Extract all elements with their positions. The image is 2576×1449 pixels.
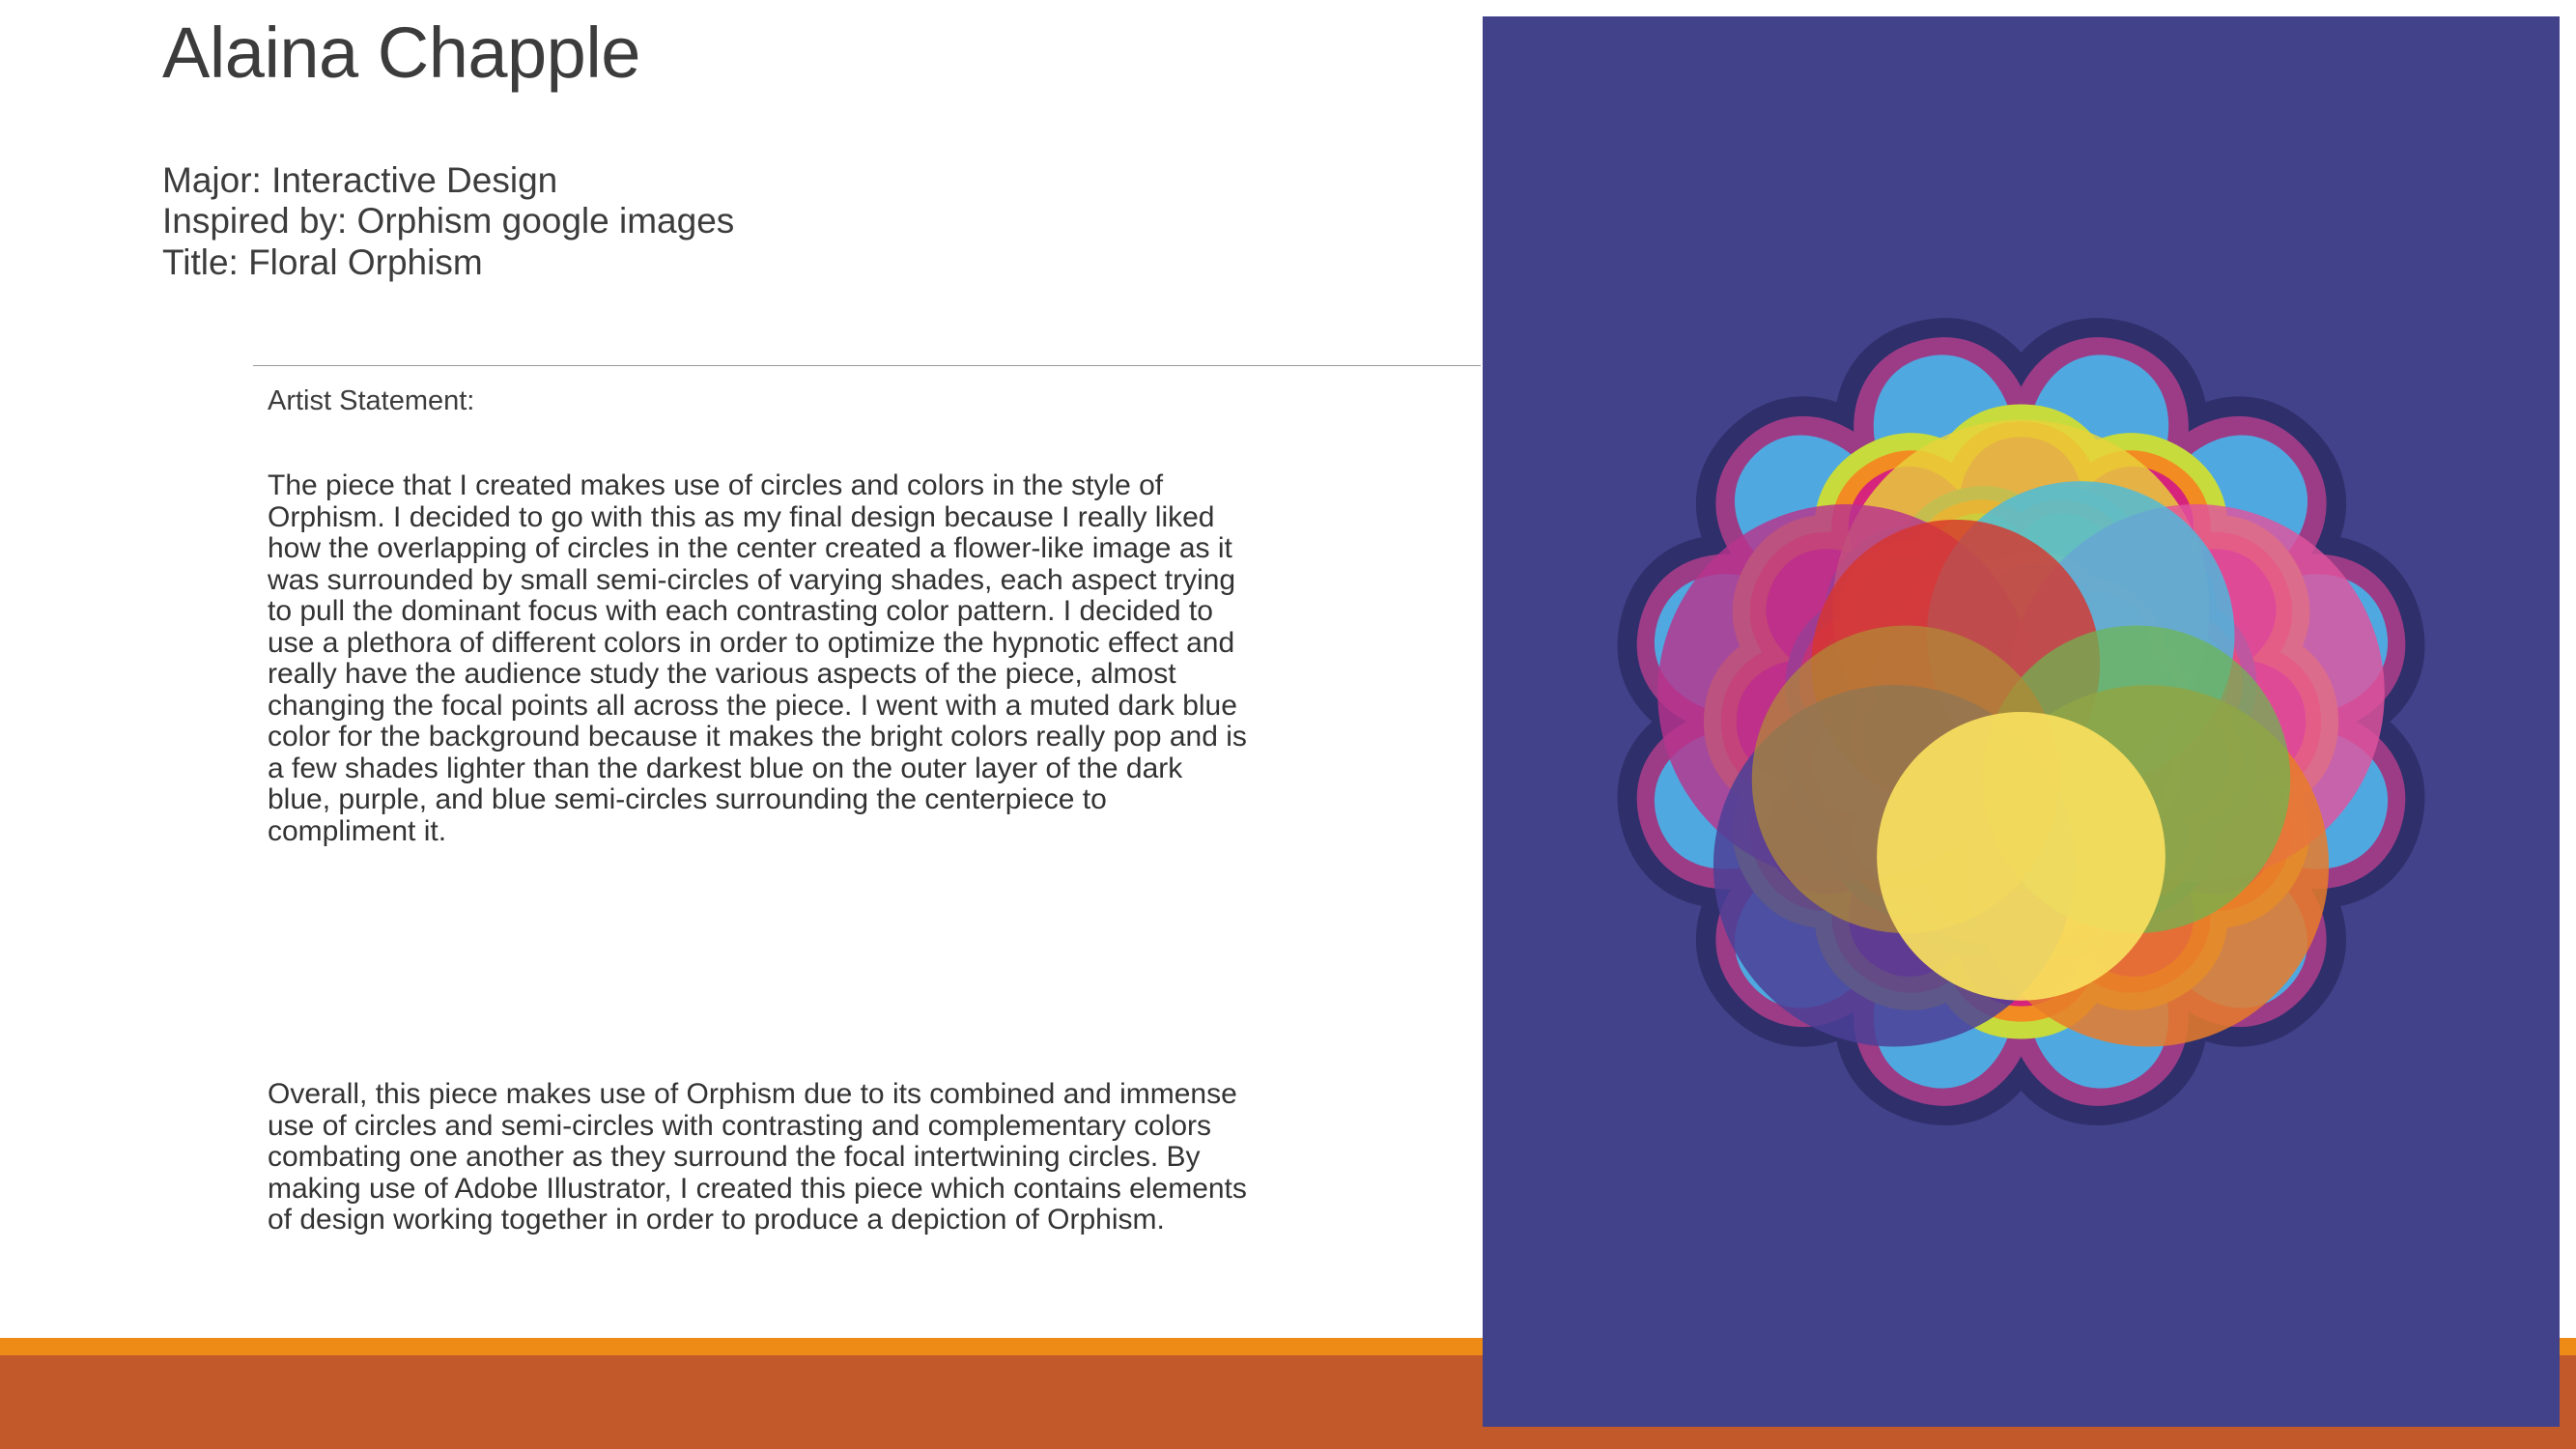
floral-orphism-artwork xyxy=(1483,16,2560,1427)
subtitle-block: Major: Interactive Design Inspired by: O… xyxy=(162,162,896,285)
subtitle-line-major: Major: Interactive Design xyxy=(162,162,896,203)
circle-lemon xyxy=(1877,712,2166,1001)
subtitle-line-inspired-by: Inspired by: Orphism google images xyxy=(162,203,896,243)
artist-statement-paragraph-1: The piece that I created makes use of ci… xyxy=(268,470,1253,848)
header-divider xyxy=(253,365,1481,366)
artwork-panel xyxy=(1483,16,2560,1427)
artist-statement-paragraph-2: Overall, this piece makes use of Orphism… xyxy=(268,1079,1253,1236)
subtitle-line-artwork-title: Title: Floral Orphism xyxy=(162,244,896,285)
page-title: Alaina Chapple xyxy=(162,17,896,89)
artist-statement-label: Artist Statement: xyxy=(268,386,474,417)
slide-canvas: Alaina Chapple Major: Interactive Design… xyxy=(0,0,2576,1449)
